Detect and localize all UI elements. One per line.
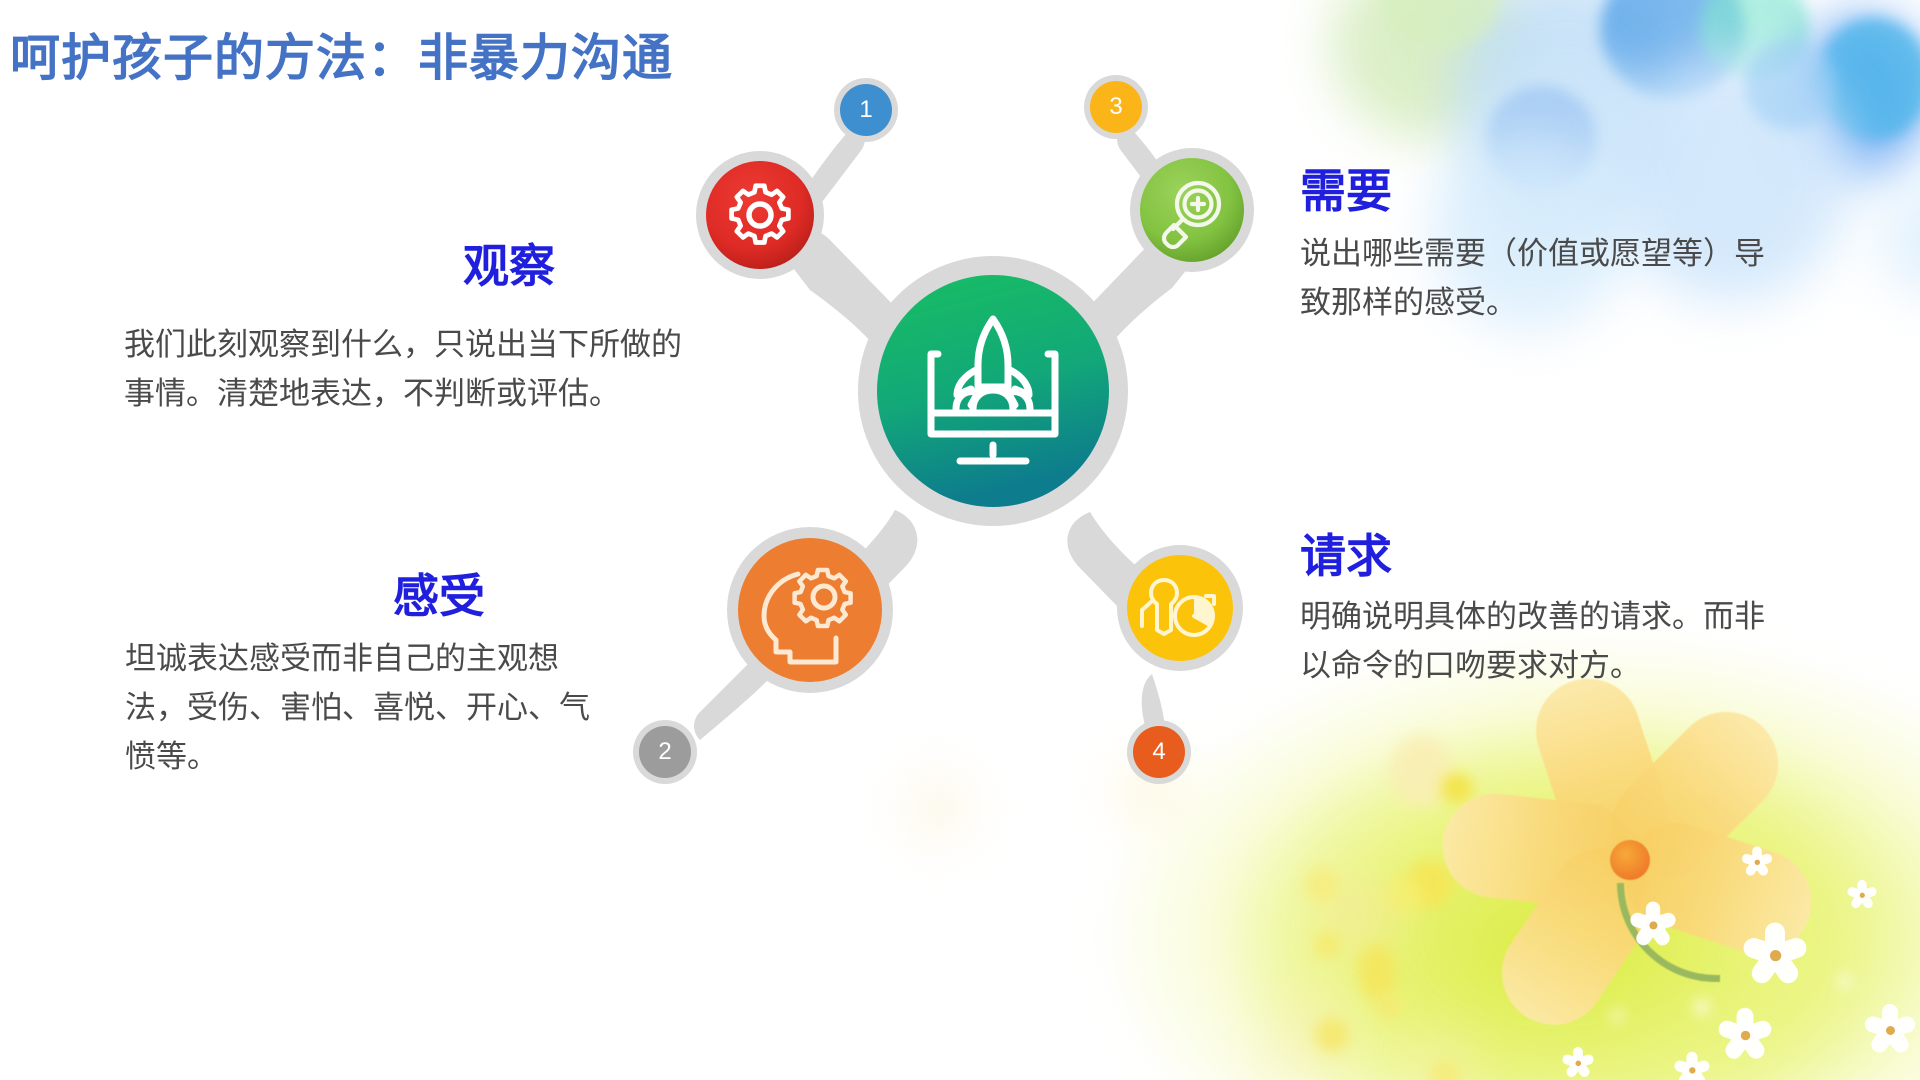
block-need: 需要 说出哪些需要（价值或愿望等）导致那样的感受。 (1300, 165, 1780, 328)
block-feel: 感受 坦诚表达感受而非自己的主观想法，受伤、害怕、喜悦、开心、气愤等。 (85, 570, 595, 782)
block-need-body: 说出哪些需要（价值或愿望等）导致那样的感受。 (1300, 230, 1770, 328)
node-badge-2: 2 (639, 726, 691, 778)
block-feel-body: 坦诚表达感受而非自己的主观想法，受伤、害怕、喜悦、开心、气愤等。 (85, 635, 595, 782)
slide-canvas: 呵护孩子的方法：非暴力沟通 (0, 0, 1920, 1080)
block-request-heading: 请求 (1300, 530, 1780, 583)
node-badge-4: 4 (1133, 726, 1185, 778)
node-badge-3: 3 (1090, 81, 1142, 133)
block-request: 请求 明确说明具体的改善的请求。而非以命令的口吻要求对方。 (1300, 530, 1780, 691)
block-observe: 观察 我们此刻观察到什么，只说出当下所做的事情。清楚地表达，不判断或评估。 (100, 240, 670, 419)
block-observe-body: 我们此刻观察到什么，只说出当下所做的事情。清楚地表达，不判断或评估。 (100, 321, 684, 419)
block-request-body: 明确说明具体的改善的请求。而非以命令的口吻要求对方。 (1300, 593, 1770, 691)
node-badge-1: 1 (840, 84, 892, 136)
block-need-heading: 需要 (1300, 165, 1780, 218)
block-feel-heading: 感受 (85, 570, 595, 623)
block-observe-heading: 观察 (100, 240, 670, 293)
